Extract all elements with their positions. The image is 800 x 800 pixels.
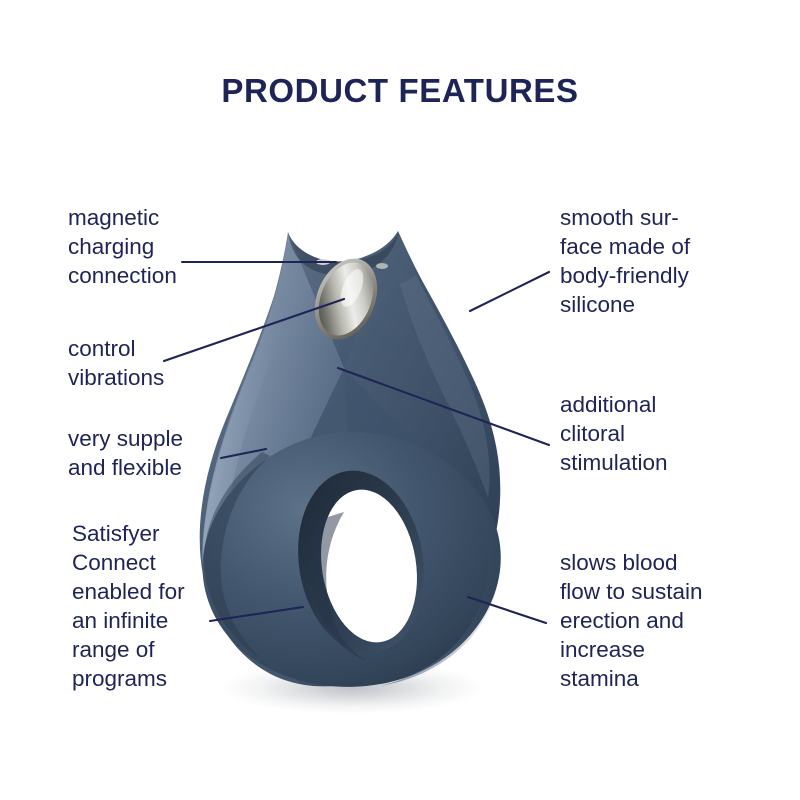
leader-smooth-surface — [470, 272, 549, 311]
button-top-glint-2 — [376, 263, 388, 269]
callout-additional-clitoral-stimulation: additional clitoral stimulation — [560, 390, 750, 477]
callout-very-supple-and-flexible: very supple and flexible — [68, 424, 248, 482]
product-features-infographic: PRODUCT FEATURES — [0, 0, 800, 800]
callout-satisfyer-connect-programs: Satisfyer Connect enabled for an infinit… — [72, 519, 240, 693]
callout-magnetic-charging-connection: magnetic charging connection — [68, 203, 238, 290]
callout-smooth-surface-silicone: smooth sur- face made of body-friendly s… — [560, 203, 750, 319]
callout-slows-blood-flow-stamina: slows blood flow to sustain erection and… — [560, 548, 760, 693]
callout-control-vibrations: control vibrations — [68, 334, 238, 392]
